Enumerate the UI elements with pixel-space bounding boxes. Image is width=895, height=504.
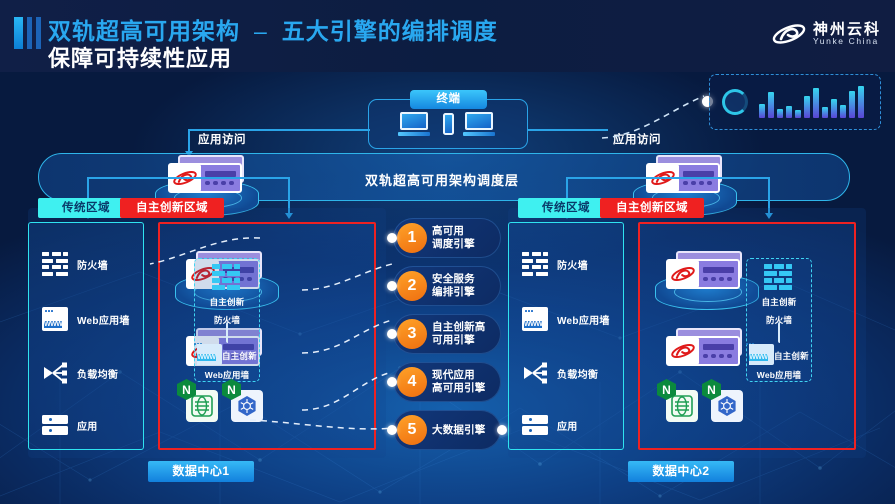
engine-label: 自主创新高 可用引擎 bbox=[432, 321, 486, 347]
device-front-panel bbox=[666, 259, 740, 289]
brand-name-cn: 神州云科 bbox=[813, 22, 881, 38]
engine-connector-dot-left bbox=[387, 329, 397, 339]
innovation-item-label: 自主创新 防火墙 bbox=[210, 297, 245, 325]
device-slot-bar bbox=[703, 267, 734, 273]
monitor-bar-4 bbox=[786, 106, 792, 118]
service-label: 负载均衡 bbox=[77, 366, 118, 381]
nginx-icon: N bbox=[177, 379, 196, 400]
header-accent-bars bbox=[14, 17, 41, 49]
service-label: 防火墙 bbox=[557, 257, 588, 272]
firewall-icon bbox=[42, 252, 68, 276]
innovation-item-waf-1: WWW 自主创新 Web应用墙 bbox=[194, 324, 260, 383]
waf-glyph: WWW bbox=[44, 321, 62, 328]
application-icon bbox=[522, 413, 548, 437]
page-title-dash: – bbox=[240, 18, 282, 44]
innovation-item-waf-2: WWW 自主创新 Web应用墙 bbox=[746, 324, 812, 383]
svg-text:N: N bbox=[662, 383, 671, 397]
laptop-icon-2 bbox=[465, 112, 497, 136]
monitor-bar-5 bbox=[795, 110, 801, 118]
kubernetes-tile-1: N bbox=[231, 390, 263, 422]
laptop-base-2 bbox=[463, 132, 495, 136]
device-slot-bar bbox=[205, 171, 236, 177]
waf-glyph: WWW bbox=[197, 354, 215, 361]
monitor-bar-12 bbox=[858, 86, 864, 118]
waf-icon: WWW bbox=[42, 307, 68, 331]
innovation-item-label: 自主创新 防火墙 bbox=[762, 297, 797, 325]
slide-canvas: 双轨超高可用架构–五大引擎的编排调度 保障可持续性应用 神州云科 Yunke C… bbox=[0, 0, 895, 504]
engine-connector-dot-right bbox=[497, 425, 507, 435]
service-label: Web应用墙 bbox=[557, 312, 610, 327]
service-row-waf: WWW Web应用墙 bbox=[42, 307, 130, 331]
data-center-2-label: 数据中心2 bbox=[628, 461, 734, 482]
service-row-waf: WWW Web应用墙 bbox=[522, 307, 610, 331]
service-row-firewall: 防火墙 bbox=[522, 252, 588, 276]
gauge-ring-icon bbox=[722, 89, 748, 115]
innovation-device-2b bbox=[666, 334, 744, 370]
engine-label: 现代应用 高可用引擎 bbox=[432, 369, 486, 395]
firewall-icon bbox=[764, 264, 794, 290]
device-slots bbox=[699, 267, 738, 282]
device-slots bbox=[699, 344, 738, 359]
device-logo-badge bbox=[667, 261, 699, 287]
nginx-app-tile-1: N bbox=[186, 390, 218, 422]
innovation-zone-tag-1: 自主创新区域 bbox=[120, 198, 224, 218]
branch-bus-right bbox=[566, 177, 769, 179]
scheduling-layer-title: 双轨超高可用架构调度层 bbox=[365, 170, 519, 189]
device-slot-bar bbox=[683, 171, 714, 177]
waf-glyph: WWW bbox=[749, 354, 767, 361]
data-center-1: 传统区域 自主创新区域 防火墙 WWW Web应用墙 bbox=[28, 208, 386, 458]
engine-label: 大数据引擎 bbox=[432, 424, 486, 437]
server-unit-2 bbox=[522, 426, 548, 435]
monitor-bar-9 bbox=[831, 99, 837, 118]
nginx-icon: N bbox=[222, 379, 241, 400]
service-label: 应用 bbox=[557, 418, 578, 433]
load-balance-icon bbox=[42, 361, 68, 385]
engine-connector-dot-left bbox=[387, 425, 397, 435]
data-center-2: 传统区域 自主创新区域 防火墙 WWW Web应用墙 bbox=[508, 208, 866, 458]
engine-item-1[interactable]: 1高可用 调度引擎 bbox=[393, 218, 501, 258]
brand-name-en: Yunke China bbox=[813, 37, 881, 46]
swirl-logo-icon bbox=[670, 341, 696, 361]
terminal-line-right bbox=[528, 129, 608, 131]
monitor-bar-7 bbox=[813, 88, 819, 118]
engine-number-badge: 5 bbox=[397, 415, 427, 445]
brand-logo: 神州云科 Yunke China bbox=[772, 20, 881, 48]
engine-number-badge: 3 bbox=[397, 319, 427, 349]
svg-text:N: N bbox=[707, 383, 716, 397]
server-unit-1 bbox=[522, 415, 548, 424]
monitor-bar-3 bbox=[777, 109, 783, 118]
engine-item-2[interactable]: 2安全服务 编排引擎 bbox=[393, 266, 501, 306]
firewall-icon bbox=[212, 264, 242, 290]
laptop-icon bbox=[400, 112, 432, 136]
engine-connector-dot-left bbox=[387, 377, 397, 387]
engine-item-5[interactable]: 5大数据引擎 bbox=[393, 410, 501, 450]
waf-glyph: WWW bbox=[524, 321, 542, 328]
kubernetes-tile-2: N bbox=[711, 390, 743, 422]
scheduler-device-left bbox=[168, 161, 246, 197]
innovation-item-firewall-1: 自主创新 防火墙 bbox=[194, 264, 260, 328]
page-subtitle: 保障可持续性应用 bbox=[48, 41, 232, 73]
scheduler-device-right bbox=[646, 161, 724, 197]
access-label-right: 应用访问 bbox=[613, 131, 661, 147]
nginx-icon: N bbox=[657, 379, 676, 400]
service-row-application: 应用 bbox=[42, 413, 98, 437]
engine-item-4[interactable]: 4现代应用 高可用引擎 bbox=[393, 362, 501, 402]
engine-connector-dot-left bbox=[387, 233, 397, 243]
engine-number-badge: 1 bbox=[397, 223, 427, 253]
data-center-1-label: 数据中心1 bbox=[148, 461, 254, 482]
engine-connector-dot-left bbox=[387, 281, 397, 291]
page-title-tail: 五大引擎的编排调度 bbox=[282, 18, 498, 44]
svg-text:N: N bbox=[182, 383, 191, 397]
monitor-bar-10 bbox=[840, 105, 846, 118]
swirl-logo-icon bbox=[670, 264, 696, 284]
slide-header: 双轨超高可用架构–五大引擎的编排调度 保障可持续性应用 神州云科 Yunke C… bbox=[0, 0, 895, 72]
service-label: 应用 bbox=[77, 418, 98, 433]
service-row-firewall: 防火墙 bbox=[42, 252, 108, 276]
engine-list: 1高可用 调度引擎2安全服务 编排引擎3自主创新高 可用引擎4现代应用 高可用引… bbox=[393, 218, 501, 458]
nginx-app-tile-2: N bbox=[666, 390, 698, 422]
application-icon bbox=[42, 413, 68, 437]
server-unit-2 bbox=[42, 426, 68, 435]
svg-text:N: N bbox=[227, 383, 236, 397]
service-row-application: 应用 bbox=[522, 413, 578, 437]
server-unit-1 bbox=[42, 415, 68, 424]
device-slot-dots bbox=[703, 277, 734, 282]
accent-bar-1 bbox=[14, 17, 23, 49]
engine-item-3[interactable]: 3自主创新高 可用引擎 bbox=[393, 314, 501, 354]
service-label: Web应用墙 bbox=[77, 312, 130, 327]
swirl-logo-icon bbox=[772, 20, 806, 48]
innovation-item-firewall-2: 自主创新 防火墙 bbox=[746, 264, 812, 328]
innovation-zone-tag-2: 自主创新区域 bbox=[600, 198, 704, 218]
device-slot-dots bbox=[683, 181, 714, 186]
service-row-load-balance: 负载均衡 bbox=[522, 361, 598, 385]
accent-bar-3 bbox=[36, 17, 41, 49]
load-balance-icon bbox=[522, 361, 548, 385]
engine-number-badge: 2 bbox=[397, 271, 427, 301]
brand-text: 神州云科 Yunke China bbox=[813, 22, 881, 47]
terminal-label: 终端 bbox=[410, 90, 487, 109]
service-label: 负载均衡 bbox=[557, 366, 598, 381]
engine-number-badge: 4 bbox=[397, 367, 427, 397]
accent-bar-2 bbox=[27, 17, 32, 49]
device-slot-dots bbox=[205, 181, 236, 186]
monitor-bar-chart bbox=[759, 86, 864, 118]
innovation-device-2a bbox=[666, 257, 744, 293]
device-slot-bar bbox=[703, 344, 734, 350]
service-row-load-balance: 负载均衡 bbox=[42, 361, 118, 385]
service-label: 防火墙 bbox=[77, 257, 108, 272]
laptop-screen-2 bbox=[465, 112, 493, 130]
monitor-bar-8 bbox=[822, 107, 828, 118]
terminal-arrow-left bbox=[188, 129, 190, 151]
access-label-left: 应用访问 bbox=[198, 131, 246, 147]
monitor-bar-1 bbox=[759, 104, 765, 118]
device-logo-badge bbox=[667, 338, 699, 364]
engine-label: 高可用 调度引擎 bbox=[432, 225, 475, 251]
branch-bus-left bbox=[87, 177, 289, 179]
monitor-bar-2 bbox=[768, 92, 774, 118]
device-front-panel bbox=[666, 336, 740, 366]
waf-icon: WWW bbox=[522, 307, 548, 331]
monitor-bar-11 bbox=[849, 91, 855, 118]
laptop-base bbox=[398, 132, 430, 136]
nginx-icon: N bbox=[702, 379, 721, 400]
monitoring-widget[interactable] bbox=[709, 74, 881, 130]
monitor-bar-6 bbox=[804, 96, 810, 118]
firewall-icon bbox=[522, 252, 548, 276]
engine-label: 安全服务 编排引擎 bbox=[432, 273, 475, 299]
laptop-screen bbox=[400, 112, 428, 130]
device-slot-dots bbox=[703, 354, 734, 359]
phone-icon bbox=[443, 113, 454, 135]
